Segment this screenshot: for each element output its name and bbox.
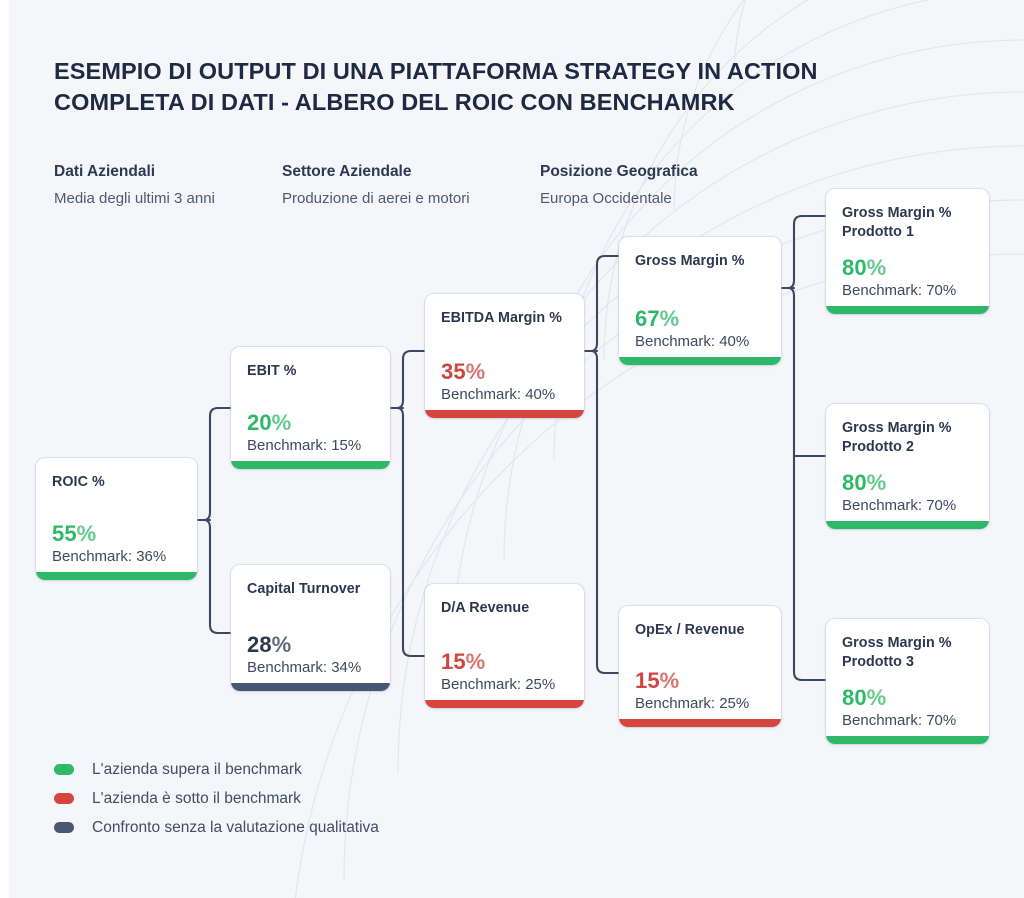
card-value: 80% — [842, 685, 956, 711]
card-title: Gross Margin % — [635, 252, 765, 271]
card-value: 35% — [441, 359, 555, 385]
card-opex-revenue[interactable]: OpEx / Revenue 15% Benchmark: 25% — [619, 606, 781, 727]
card-body: 28% Benchmark: 34% — [247, 632, 361, 678]
card-benchmark: Benchmark: 25% — [635, 694, 749, 714]
legend-item-below: L'azienda è sotto il benchmark — [54, 784, 379, 813]
card-body: 67% Benchmark: 40% — [635, 306, 749, 352]
card-ebit[interactable]: EBIT % 20% Benchmark: 15% — [231, 347, 390, 469]
card-benchmark: Benchmark: 36% — [52, 547, 166, 567]
meta-item-dati-aziendali: Dati Aziendali Media degli ultimi 3 anni — [54, 163, 282, 207]
card-roic[interactable]: ROIC % 55% Benchmark: 36% — [36, 458, 197, 580]
legend-item-neutral: Confronto senza la valutazione qualitati… — [54, 813, 379, 842]
meta-item-settore-aziendale: Settore Aziendale Produzione di aerei e … — [282, 163, 540, 207]
meta-item-posizione-geografica: Posizione Geografica Europa Occidentale — [540, 163, 768, 207]
legend-dot-red-icon — [54, 793, 74, 804]
card-gross-margin-prodotto-3[interactable]: Gross Margin %Prodotto 3 80% Benchmark: … — [826, 619, 989, 744]
page-title-line-1: ESEMPIO DI OUTPUT DI UNA PIATTAFORMA STR… — [54, 56, 818, 87]
meta-label: Dati Aziendali — [54, 163, 282, 181]
meta-value: Produzione di aerei e motori — [282, 190, 540, 207]
status-bar — [826, 521, 989, 529]
context-meta-row: Dati Aziendali Media degli ultimi 3 anni… — [54, 163, 768, 207]
status-bar — [826, 736, 989, 744]
legend-item-above: L'azienda supera il benchmark — [54, 755, 379, 784]
status-bar — [231, 683, 390, 691]
card-title: EBIT % — [247, 362, 374, 381]
card-title: OpEx / Revenue — [635, 621, 765, 640]
card-benchmark: Benchmark: 40% — [635, 332, 749, 352]
legend-label: Confronto senza la valutazione qualitati… — [92, 819, 379, 837]
card-value: 28% — [247, 632, 361, 658]
card-ebitda-margin[interactable]: EBITDA Margin % 35% Benchmark: 40% — [425, 294, 584, 418]
card-capital-turnover[interactable]: Capital Turnover 28% Benchmark: 34% — [231, 565, 390, 691]
card-gross-margin-prodotto-1[interactable]: Gross Margin %Prodotto 1 80% Benchmark: … — [826, 189, 989, 314]
status-bar — [231, 461, 390, 469]
card-title: ROIC % — [52, 473, 181, 492]
status-bar — [619, 719, 781, 727]
card-value: 55% — [52, 521, 166, 547]
legend-label: L'azienda è sotto il benchmark — [92, 790, 301, 808]
card-title: EBITDA Margin % — [441, 309, 568, 328]
card-benchmark: Benchmark: 25% — [441, 675, 555, 695]
card-da-revenue[interactable]: D/A Revenue 15% Benchmark: 25% — [425, 584, 584, 708]
meta-value: Europa Occidentale — [540, 190, 768, 207]
legend-dot-green-icon — [54, 764, 74, 775]
card-benchmark: Benchmark: 34% — [247, 658, 361, 678]
meta-value: Media degli ultimi 3 anni — [54, 190, 282, 207]
card-body: 20% Benchmark: 15% — [247, 410, 361, 456]
meta-label: Posizione Geografica — [540, 163, 768, 181]
card-body: 15% Benchmark: 25% — [441, 649, 555, 695]
card-value: 15% — [635, 668, 749, 694]
card-benchmark: Benchmark: 15% — [247, 436, 361, 456]
card-body: 80% Benchmark: 70% — [842, 685, 956, 731]
card-title: Gross Margin %Prodotto 1 — [842, 204, 973, 242]
card-value: 80% — [842, 470, 956, 496]
card-benchmark: Benchmark: 40% — [441, 385, 555, 405]
card-value: 80% — [842, 255, 956, 281]
status-bar — [425, 410, 584, 418]
card-body: 35% Benchmark: 40% — [441, 359, 555, 405]
legend: L'azienda supera il benchmark L'azienda … — [54, 755, 379, 842]
status-bar — [619, 357, 781, 365]
card-title: D/A Revenue — [441, 599, 568, 618]
card-value: 67% — [635, 306, 749, 332]
card-value: 15% — [441, 649, 555, 675]
meta-label: Settore Aziendale — [282, 163, 540, 181]
diagram-canvas: ESEMPIO DI OUTPUT DI UNA PIATTAFORMA STR… — [0, 0, 1024, 898]
page-title: ESEMPIO DI OUTPUT DI UNA PIATTAFORMA STR… — [54, 56, 818, 118]
legend-label: L'azienda supera il benchmark — [92, 761, 302, 779]
status-bar — [36, 572, 197, 580]
card-benchmark: Benchmark: 70% — [842, 711, 956, 731]
card-body: 80% Benchmark: 70% — [842, 470, 956, 516]
card-title: Gross Margin %Prodotto 3 — [842, 634, 973, 672]
page-title-line-2: COMPLETA DI DATI - ALBERO DEL ROIC CON B… — [54, 87, 818, 118]
card-gross-margin-prodotto-2[interactable]: Gross Margin %Prodotto 2 80% Benchmark: … — [826, 404, 989, 529]
card-body: 55% Benchmark: 36% — [52, 521, 166, 567]
card-title: Gross Margin %Prodotto 2 — [842, 419, 973, 457]
legend-dot-navy-icon — [54, 822, 74, 833]
status-bar — [826, 306, 989, 314]
card-benchmark: Benchmark: 70% — [842, 281, 956, 301]
card-benchmark: Benchmark: 70% — [842, 496, 956, 516]
status-bar — [425, 700, 584, 708]
card-gross-margin[interactable]: Gross Margin % 67% Benchmark: 40% — [619, 237, 781, 365]
card-body: 15% Benchmark: 25% — [635, 668, 749, 714]
card-title: Capital Turnover — [247, 580, 374, 599]
card-value: 20% — [247, 410, 361, 436]
card-body: 80% Benchmark: 70% — [842, 255, 956, 301]
